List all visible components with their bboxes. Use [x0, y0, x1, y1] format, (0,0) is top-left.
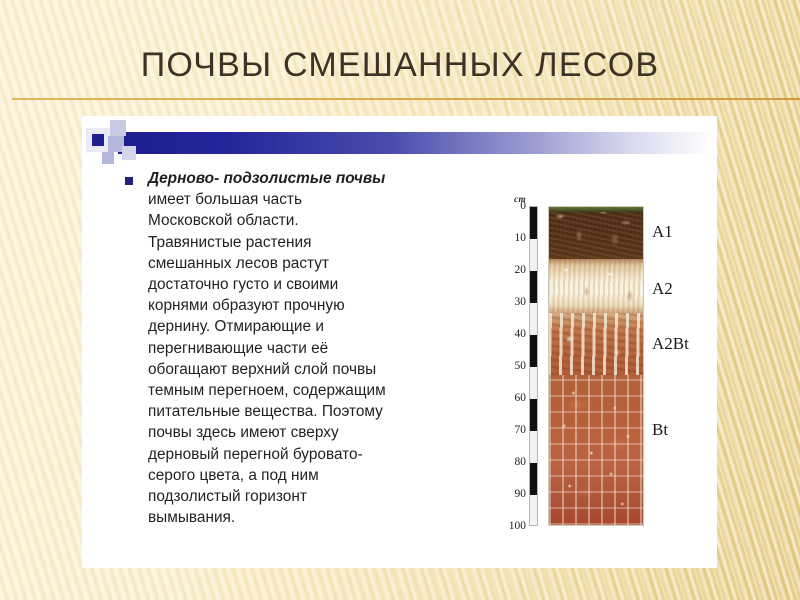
depth-tick-30: 30: [480, 296, 526, 308]
depth-scale-segment-40: [530, 335, 537, 367]
soil-horizon-bt: [549, 375, 643, 525]
horizon-label-a2bt: A2Bt: [652, 334, 689, 354]
depth-tick-100: 100: [480, 520, 526, 532]
depth-scale-segment-20: [530, 271, 537, 303]
title-block: ПОЧВЫ СМЕШАННЫХ ЛЕСОВ: [0, 44, 800, 86]
depth-tick-80: 80: [480, 456, 526, 468]
depth-scale-segment-0: [530, 207, 537, 239]
horizon-label-bt: Bt: [652, 420, 668, 440]
soil-profile-photograph: [548, 206, 644, 526]
bullet-square-marker: [125, 177, 133, 185]
depth-tick-70: 70: [480, 424, 526, 436]
depth-scale-segment-80: [530, 463, 537, 495]
soil-horizon-labels: A1A2A2BtBt: [652, 206, 714, 526]
depth-scale-bar: [529, 206, 538, 526]
depth-tick-50: 50: [480, 360, 526, 372]
depth-scale-numbers: 0102030405060708090100: [480, 206, 526, 526]
paragraph-soil-description: Дерново- подзолистые почвы имеет большая…: [148, 168, 387, 528]
horizon-label-a1: A1: [652, 222, 673, 242]
decorative-square-navy-small: [92, 134, 104, 146]
body-text-block: Дерново- подзолистые почвы имеет большая…: [122, 168, 387, 528]
depth-tick-90: 90: [480, 488, 526, 500]
decorative-gradient-bar: [118, 132, 712, 154]
decorative-square-lavender-low: [102, 152, 114, 164]
slide: ПОЧВЫ СМЕШАННЫХ ЛЕСОВ Дерново- подзолист…: [0, 0, 800, 600]
depth-tick-40: 40: [480, 328, 526, 340]
soil-litter-layer: [549, 207, 643, 212]
depth-tick-0: 0: [480, 200, 526, 212]
paragraph-rest: имеет большая часть Московской области. …: [148, 191, 386, 526]
page-title: ПОЧВЫ СМЕШАННЫХ ЛЕСОВ: [0, 44, 800, 86]
decorative-square-lavender-top: [110, 120, 126, 136]
depth-scale-segment-60: [530, 399, 537, 431]
depth-tick-60: 60: [480, 392, 526, 404]
horizon-label-a2: A2: [652, 279, 673, 299]
decorative-square-pale: [122, 146, 136, 160]
soil-horizon-a1: [549, 207, 643, 259]
depth-tick-10: 10: [480, 232, 526, 244]
bullet-list-item: Дерново- подзолистые почвы имеет большая…: [122, 168, 387, 528]
depth-tick-20: 20: [480, 264, 526, 276]
soil-horizon-a2bt: [549, 313, 643, 375]
paragraph-lead-term: Дерново- подзолистые почвы: [148, 170, 385, 187]
soil-profile-figure: cm 0102030405060708090100 A1A2A2BtBt: [480, 194, 712, 546]
title-underline-rule: [12, 98, 800, 100]
content-panel: Дерново- подзолистые почвы имеет большая…: [82, 116, 717, 568]
soil-horizon-a2: [549, 259, 643, 314]
